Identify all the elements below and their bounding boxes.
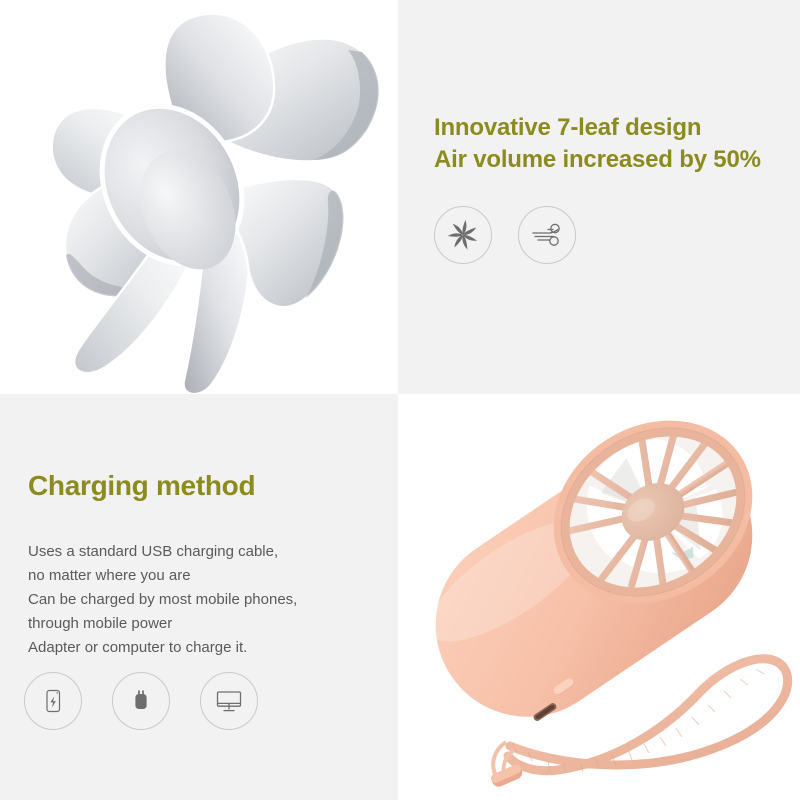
- seven-leaf-fan-glyph: [446, 218, 480, 252]
- feature-heading-line2: Air volume increased by 50%: [434, 144, 761, 176]
- power-adapter-glyph: [126, 686, 156, 716]
- feature-heading: Innovative 7-leaf design Air volume incr…: [434, 112, 761, 176]
- product-infographic: Innovative 7-leaf design Air volume incr…: [0, 0, 800, 800]
- wind-flow-glyph: [530, 220, 564, 250]
- fan-blade-group: [52, 14, 379, 394]
- fan-blade-panel: [0, 0, 398, 394]
- charging-body-line: no matter where you are: [28, 564, 297, 588]
- wind-flow-icon: [518, 206, 576, 264]
- handheld-mini-fan-image: [398, 394, 800, 800]
- charging-body-line: Adapter or computer to charge it.: [28, 636, 297, 660]
- charging-body-line: through mobile power: [28, 612, 297, 636]
- feature-heading-line1: Innovative 7-leaf design: [434, 112, 761, 144]
- charging-heading: Charging method: [28, 470, 255, 502]
- phone-charging-icon: [24, 672, 82, 730]
- power-adapter-icon: [112, 672, 170, 730]
- computer-monitor-glyph: [213, 686, 245, 716]
- charging-body-line: Uses a standard USB charging cable,: [28, 540, 297, 564]
- feature-panel: Innovative 7-leaf design Air volume incr…: [398, 0, 800, 394]
- charging-icon-row: [24, 672, 258, 730]
- charging-body: Uses a standard USB charging cable, no m…: [28, 540, 297, 660]
- fan-device-group: [400, 394, 788, 789]
- computer-monitor-icon: [200, 672, 258, 730]
- feature-icon-row: [434, 206, 576, 264]
- seven-blade-impeller-image: [0, 0, 398, 394]
- charging-body-line: Can be charged by most mobile phones,: [28, 588, 297, 612]
- seven-leaf-fan-icon: [434, 206, 492, 264]
- product-photo-panel: [398, 394, 800, 800]
- phone-charging-glyph: [38, 686, 68, 716]
